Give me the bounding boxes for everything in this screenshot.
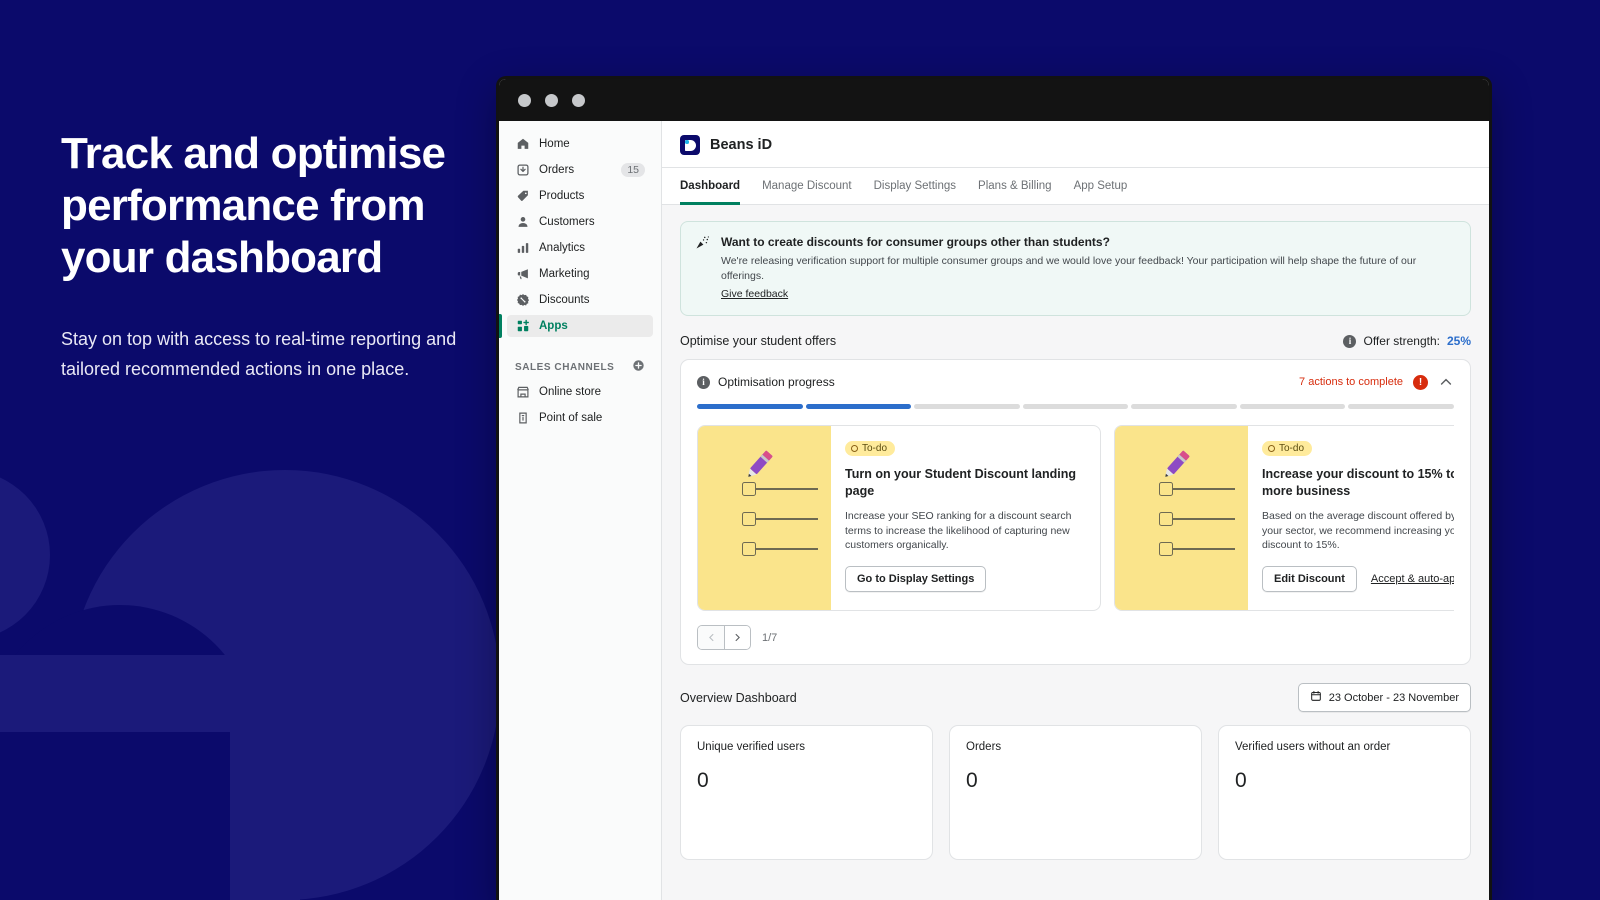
metric-cards: Unique verified users 0 Orders 0 Verifie… [680, 725, 1471, 860]
edit-discount-button[interactable]: Edit Discount [1262, 566, 1357, 592]
tab-manage-discount[interactable]: Manage Discount [762, 168, 852, 205]
optimisation-progress-panel: i Optimisation progress 7 actions to com… [680, 359, 1471, 665]
app-content: Beans iD Dashboard Manage Discount Displ… [662, 121, 1489, 900]
offer-strength-label: Offer strength: [1363, 334, 1439, 348]
offer-strength-value: 25% [1447, 334, 1471, 348]
shopify-sidebar: Home Orders 15 Products [499, 121, 662, 900]
orders-icon [515, 163, 530, 178]
metric-card: Verified users without an order 0 [1218, 725, 1471, 860]
sidebar-item-label: Analytics [539, 242, 645, 254]
metric-label: Orders [966, 741, 1185, 753]
browser-window: Home Orders 15 Products [496, 76, 1492, 900]
chevron-right-icon[interactable] [724, 626, 750, 649]
tab-display-settings[interactable]: Display Settings [874, 168, 956, 205]
sidebar-item-orders[interactable]: Orders 15 [507, 159, 653, 181]
metric-value: 0 [697, 769, 916, 793]
sidebar-item-label: Apps [539, 320, 645, 332]
sidebar-item-point-of-sale[interactable]: Point of sale [507, 407, 653, 429]
action-card-description: Increase your SEO ranking for a discount… [845, 509, 1086, 553]
background-watermark [0, 470, 500, 900]
todo-ring-icon [1268, 445, 1275, 452]
dashboard-scroll-area: Want to create discounts for consumer gr… [662, 205, 1489, 860]
status-badge-label: To-do [862, 443, 887, 454]
panel-title: Optimisation progress [718, 375, 835, 389]
go-to-display-settings-button[interactable]: Go to Display Settings [845, 566, 986, 592]
sidebar-item-label: Point of sale [539, 412, 645, 424]
sidebar-item-online-store[interactable]: Online store [507, 381, 653, 403]
storefront-icon [515, 385, 530, 400]
alert-badge-icon: ! [1413, 375, 1428, 390]
date-range-picker[interactable]: 23 October - 23 November [1298, 683, 1471, 712]
sidebar-item-products[interactable]: Products [507, 185, 653, 207]
date-range-label: 23 October - 23 November [1329, 692, 1459, 704]
sidebar-item-customers[interactable]: Customers [507, 211, 653, 233]
marketing-headline: Track and optimise performance from your… [61, 128, 471, 284]
metric-value: 0 [966, 769, 1185, 793]
banner-title: Want to create discounts for consumer gr… [721, 235, 1456, 249]
calendar-icon [1310, 690, 1322, 705]
give-feedback-link[interactable]: Give feedback [721, 288, 788, 300]
metric-value: 0 [1235, 769, 1454, 793]
app-header: Beans iD [662, 121, 1489, 168]
metric-label: Unique verified users [697, 741, 916, 753]
info-icon[interactable]: i [1343, 335, 1356, 348]
sidebar-item-label: Online store [539, 386, 645, 398]
sidebar-item-label: Products [539, 190, 645, 202]
progress-bar [697, 404, 1454, 409]
tab-plans-billing[interactable]: Plans & Billing [978, 168, 1052, 205]
plus-circle-icon[interactable] [632, 359, 645, 375]
status-badge: To-do [1262, 441, 1312, 456]
sidebar-item-apps[interactable]: Apps [507, 315, 653, 337]
overview-title: Overview Dashboard [680, 691, 797, 705]
sidebar-item-label: Home [539, 138, 645, 150]
overview-header-row: Overview Dashboard 23 October - 23 Novem… [680, 683, 1471, 712]
discounts-icon [515, 293, 530, 308]
action-card-title: Turn on your Student Discount landing pa… [845, 466, 1086, 500]
banner-text: We're releasing verification support for… [721, 254, 1456, 284]
panel-header: i Optimisation progress 7 actions to com… [697, 374, 1454, 390]
todo-ring-icon [851, 445, 858, 452]
action-card-title: Increase your discount to 15% to attract… [1262, 466, 1454, 500]
optimise-header-row: Optimise your student offers i Offer str… [680, 334, 1471, 348]
sidebar-item-label: Discounts [539, 294, 645, 306]
chevron-left-icon[interactable] [698, 626, 724, 649]
pos-icon [515, 411, 530, 426]
page-title: Beans iD [710, 137, 772, 153]
sidebar-item-analytics[interactable]: Analytics [507, 237, 653, 259]
actions-remaining-label: 7 actions to complete [1299, 376, 1403, 388]
apps-grid-icon [515, 319, 530, 334]
chevron-up-icon[interactable] [1438, 374, 1454, 390]
action-card[interactable]: To-do Increase your discount to 15% to a… [1114, 425, 1454, 611]
status-badge: To-do [845, 441, 895, 456]
pencil-checklist-illustration [1115, 426, 1248, 610]
metric-card: Orders 0 [949, 725, 1202, 860]
action-card[interactable]: To-do Turn on your Student Discount land… [697, 425, 1101, 611]
sales-channels-label: SALES CHANNELS [515, 362, 614, 373]
sidebar-item-marketing[interactable]: Marketing [507, 263, 653, 285]
marketing-megaphone-icon [515, 267, 530, 282]
close-dot[interactable] [518, 94, 531, 107]
feedback-banner: Want to create discounts for consumer gr… [680, 221, 1471, 316]
sidebar-item-label: Customers [539, 216, 645, 228]
sidebar-item-label: Marketing [539, 268, 645, 280]
pagination-label: 1/7 [762, 632, 777, 644]
app-tabs: Dashboard Manage Discount Display Settin… [662, 168, 1489, 205]
action-cards: To-do Turn on your Student Discount land… [697, 425, 1454, 611]
marketing-subcopy: Stay on top with access to real-time rep… [61, 324, 471, 384]
info-icon[interactable]: i [697, 376, 710, 389]
maximize-dot[interactable] [572, 94, 585, 107]
orders-badge: 15 [621, 163, 645, 177]
analytics-bars-icon [515, 241, 530, 256]
customers-person-icon [515, 215, 530, 230]
metric-label: Verified users without an order [1235, 741, 1454, 753]
optimise-section-title: Optimise your student offers [680, 334, 836, 348]
products-tag-icon [515, 189, 530, 204]
metric-card: Unique verified users 0 [680, 725, 933, 860]
confetti-icon [695, 235, 710, 302]
beans-id-logo [680, 135, 700, 155]
status-badge-label: To-do [1279, 443, 1304, 454]
home-icon [515, 137, 530, 152]
offer-strength: i Offer strength: 25% [1343, 334, 1471, 348]
sidebar-item-discounts[interactable]: Discounts [507, 289, 653, 311]
sales-channels-header: SALES CHANNELS [515, 359, 645, 375]
minimize-dot[interactable] [545, 94, 558, 107]
marketing-copy: Track and optimise performance from your… [61, 128, 471, 384]
sidebar-item-label: Orders [539, 164, 612, 176]
cards-pagination: 1/7 [697, 625, 1454, 650]
tab-app-setup[interactable]: App Setup [1074, 168, 1128, 205]
tab-dashboard[interactable]: Dashboard [680, 168, 740, 205]
pencil-checklist-illustration [698, 426, 831, 610]
sidebar-item-home[interactable]: Home [507, 133, 653, 155]
action-card-description: Based on the average discount offered by… [1262, 509, 1454, 553]
accept-auto-apply-link[interactable]: Accept & auto-apply [1371, 573, 1454, 585]
window-titlebar [499, 79, 1489, 121]
